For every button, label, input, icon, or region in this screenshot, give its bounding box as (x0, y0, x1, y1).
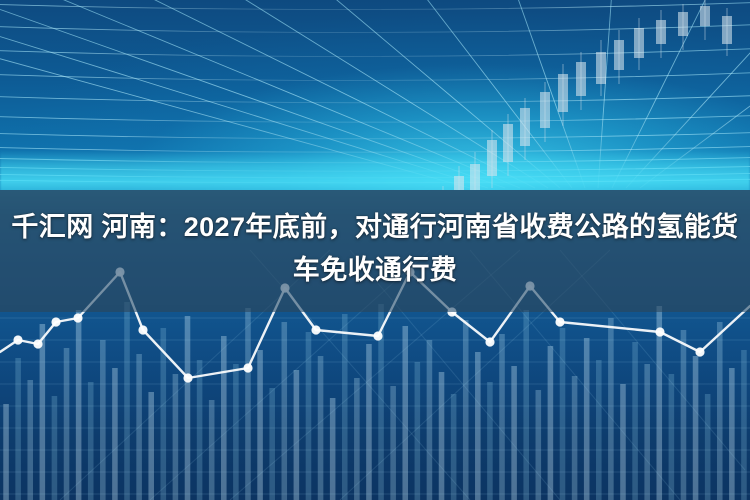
headline: 千汇网 河南：2027年底前，对通行河南省收费公路的氢能货 车免收通行费 (0, 206, 750, 292)
banner-image: 千汇网 河南：2027年底前，对通行河南省收费公路的氢能货 车免收通行费 (0, 0, 750, 500)
headline-line-2: 车免收通行费 (0, 249, 750, 292)
headline-line-1: 千汇网 河南：2027年底前，对通行河南省收费公路的氢能货 (0, 206, 750, 249)
